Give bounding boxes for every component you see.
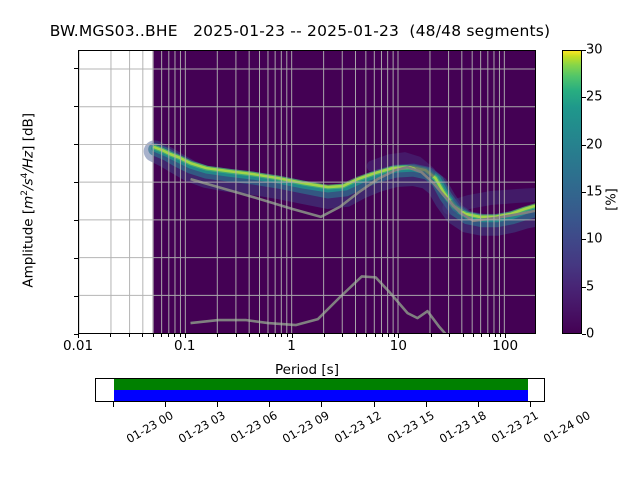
- x-tick-mark-minor: [217, 334, 218, 337]
- x-tick-label: 10: [390, 338, 407, 354]
- x-tick-mark-minor: [394, 334, 395, 337]
- x-tick-mark: [398, 334, 399, 338]
- timeline-tick-label: 01-24 00: [541, 408, 593, 446]
- x-tick-mark-minor: [481, 334, 482, 337]
- colorbar-tick-mark: [582, 287, 586, 288]
- x-tick-mark-minor: [110, 334, 111, 337]
- coverage-bar-green: [114, 379, 528, 390]
- x-tick-mark: [78, 334, 79, 338]
- x-tick-mark-minor: [324, 334, 325, 337]
- timeline-tick-label: 01-23 21: [489, 408, 541, 446]
- ppsd-axes[interactable]: [78, 50, 536, 334]
- colorbar-tick-label: 20: [586, 137, 603, 152]
- colorbar-tick-mark: [582, 334, 586, 335]
- x-tick-mark-minor: [259, 334, 260, 337]
- timeline-tick-mark: [217, 402, 218, 407]
- y-tick-mark: [74, 220, 78, 221]
- timeline-tick-label: 01-23 18: [437, 408, 489, 446]
- timeline-tick-label: 01-23 15: [384, 408, 436, 446]
- x-axis-label: Period [s]: [78, 362, 536, 378]
- x-tick-label: 1: [287, 338, 296, 354]
- page-title: BW.MGS03..BHE 2025-01-23 -- 2025-01-23 (…: [0, 22, 600, 40]
- x-tick-mark-minor: [129, 334, 130, 337]
- x-tick-mark: [292, 334, 293, 338]
- colorbar-tick-mark: [582, 50, 586, 51]
- timeline-tick-mark: [478, 402, 479, 407]
- timeline-tick-mark: [321, 402, 322, 407]
- x-tick-mark-minor: [356, 334, 357, 337]
- coverage-bar-blue: [114, 390, 528, 401]
- x-tick-mark-minor: [473, 334, 474, 337]
- timeline-tick-mark: [269, 402, 270, 407]
- timeline-tick-mark: [165, 402, 166, 407]
- x-tick-label: 0.1: [174, 338, 195, 354]
- x-tick-mark-minor: [366, 334, 367, 337]
- ppsd-histogram-canvas: [79, 51, 535, 333]
- timeline-tick-label: 01-23 09: [280, 408, 332, 446]
- colorbar-tick-label: 10: [586, 232, 603, 247]
- x-tick-label: 100: [492, 338, 518, 354]
- x-tick-mark-minor: [236, 334, 237, 337]
- colorbar-tick-mark: [582, 145, 586, 146]
- colorbar-tick-label: 15: [586, 185, 603, 200]
- y-tick-mark: [74, 144, 78, 145]
- timeline-tick-label: 01-23 00: [124, 408, 176, 446]
- x-tick-mark-minor: [161, 334, 162, 337]
- colorbar-tick-mark: [582, 192, 586, 193]
- ppsd-figure: BW.MGS03..BHE 2025-01-23 -- 2025-01-23 (…: [0, 0, 640, 480]
- y-tick-mark: [74, 296, 78, 297]
- x-tick-mark-minor: [388, 334, 389, 337]
- colorbar-label: [%]: [605, 170, 620, 230]
- timeline-tick-mark: [374, 402, 375, 407]
- x-tick-mark-minor: [500, 334, 501, 337]
- timeline-tick-mark: [113, 402, 114, 407]
- x-tick-mark: [505, 334, 506, 338]
- y-axis-label: Amplitude [m2/s4/Hz] [dB]: [20, 50, 37, 350]
- x-tick-mark-minor: [249, 334, 250, 337]
- x-tick-mark-minor: [449, 334, 450, 337]
- colorbar-tick-mark: [582, 97, 586, 98]
- x-tick-mark-minor: [153, 334, 154, 337]
- x-tick-mark-minor: [375, 334, 376, 337]
- x-tick-mark-minor: [281, 334, 282, 337]
- timeline-tick-label: 01-23 06: [228, 408, 280, 446]
- x-tick-mark-minor: [382, 334, 383, 337]
- colorbar-tick-label: 5: [586, 279, 594, 294]
- x-tick-mark-minor: [180, 334, 181, 337]
- x-tick-mark-minor: [287, 334, 288, 337]
- x-tick-label: 0.01: [63, 338, 93, 354]
- y-tick-mark: [74, 68, 78, 69]
- timeline-tick-label: 01-23 12: [332, 408, 384, 446]
- colorbar: [562, 50, 582, 334]
- x-tick-mark-minor: [168, 334, 169, 337]
- colorbar-tick-label: 25: [586, 90, 603, 105]
- colorbar-tick-mark: [582, 239, 586, 240]
- y-tick-mark: [74, 106, 78, 107]
- x-tick-mark-minor: [268, 334, 269, 337]
- y-tick-mark: [74, 258, 78, 259]
- x-tick-mark-minor: [489, 334, 490, 337]
- x-tick-mark-minor: [463, 334, 464, 337]
- colorbar-tick-label: 30: [586, 43, 603, 58]
- timeline-tick-mark: [426, 402, 427, 407]
- x-tick-mark-minor: [174, 334, 175, 337]
- x-tick-mark-minor: [342, 334, 343, 337]
- timeline-tick-mark: [530, 402, 531, 407]
- timeline-tick-label: 01-23 03: [176, 408, 228, 446]
- x-tick-mark: [185, 334, 186, 338]
- colorbar-tick-label: 0: [586, 327, 594, 342]
- y-tick-mark: [74, 182, 78, 183]
- x-tick-mark-minor: [431, 334, 432, 337]
- x-tick-mark-minor: [275, 334, 276, 337]
- x-tick-mark-minor: [495, 334, 496, 337]
- x-tick-mark-minor: [142, 334, 143, 337]
- coverage-timeline[interactable]: [95, 378, 545, 402]
